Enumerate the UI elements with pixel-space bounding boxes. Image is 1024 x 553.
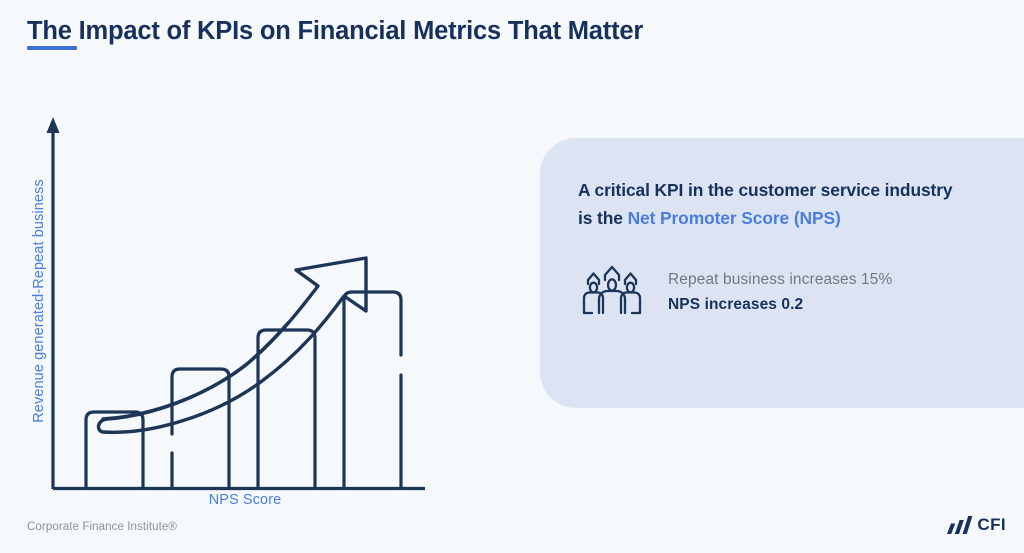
infographic-page: The Impact of KPIs on Financial Metrics … <box>0 0 1024 553</box>
bar-chart: Revenue generated-Repeat business NPS Sc… <box>0 100 470 520</box>
cfi-logo-mark-icon <box>947 516 973 534</box>
bar-1 <box>86 412 143 488</box>
x-axis-label: NPS Score <box>120 492 370 508</box>
growth-arrow-icon <box>98 258 366 432</box>
chart-graphic <box>0 100 470 520</box>
panel-heading-line-2-prefix: is the <box>578 208 628 228</box>
title-underline-accent <box>27 46 77 50</box>
footer-credit: Corporate Finance Institute® <box>27 521 177 533</box>
stat-row: Repeat business increases 15% NPS increa… <box>578 263 892 321</box>
panel-heading-line-1: A critical KPI in the customer service i… <box>578 180 952 200</box>
stat-line-nps: NPS increases 0.2 <box>668 296 892 314</box>
cfi-logo: CFI <box>947 515 1006 535</box>
panel-heading-accent: Net Promoter Score (NPS) <box>628 208 841 228</box>
title-block: The Impact of KPIs on Financial Metrics … <box>27 14 643 48</box>
stat-text: Repeat business increases 15% NPS increa… <box>668 271 892 314</box>
cfi-logo-text: CFI <box>977 515 1006 535</box>
chart-bars <box>86 292 401 488</box>
info-panel: A critical KPI in the customer service i… <box>540 138 1024 408</box>
panel-heading: A critical KPI in the customer service i… <box>578 176 1002 232</box>
bar-2 <box>172 369 229 488</box>
y-axis <box>47 117 60 489</box>
page-title: The Impact of KPIs on Financial Metrics … <box>27 14 643 48</box>
bar-3 <box>258 330 315 488</box>
people-group-icon <box>578 263 646 321</box>
stat-line-repeat-business: Repeat business increases 15% <box>668 271 892 289</box>
y-axis-label: Revenue generated-Repeat business <box>31 156 47 446</box>
bar-4 <box>344 292 401 488</box>
